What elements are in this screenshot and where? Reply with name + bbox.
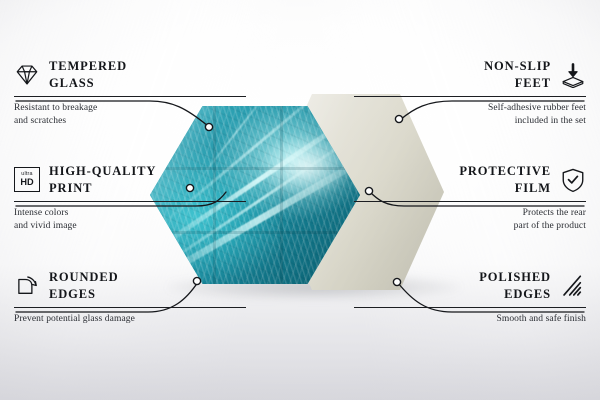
feature-tempered-glass: TEMPERED GLASS Resistant to breakage and… <box>14 58 246 129</box>
feature-description: Smooth and safe finish <box>354 313 586 326</box>
feature-title: ROUNDED EDGES <box>49 269 119 302</box>
feature-header: TEMPERED GLASS <box>14 58 246 91</box>
rounded-corner-icon <box>14 273 40 299</box>
feature-polished-edges: POLISHED EDGES Smooth and safe finish <box>354 269 586 326</box>
feature-header: POLISHED EDGES <box>354 269 586 302</box>
feature-title: TEMPERED GLASS <box>49 58 127 91</box>
feature-header: PROTECTIVE FILM <box>354 163 586 196</box>
feature-divider <box>354 307 586 308</box>
feature-header: NON-SLIP FEET <box>354 58 586 91</box>
feature-divider <box>354 201 586 202</box>
ultra-hd-badge-icon: ultra HD <box>14 167 40 192</box>
feature-divider <box>14 201 246 202</box>
infographic-canvas: TEMPERED GLASS Resistant to breakage and… <box>0 0 600 400</box>
feature-non-slip-feet: NON-SLIP FEET Self-adhesive rubber feet … <box>354 58 586 129</box>
feature-description: Intense colors and vivid image <box>14 207 246 234</box>
feature-divider <box>354 96 586 97</box>
mount-hole <box>423 257 430 264</box>
feature-header: ROUNDED EDGES <box>14 269 246 302</box>
feature-description: Protects the rear part of the product <box>354 207 586 234</box>
feature-high-quality-print: ultra HD HIGH-QUALITY PRINT Intense colo… <box>14 163 246 234</box>
feature-divider <box>14 96 246 97</box>
feature-header: ultra HD HIGH-QUALITY PRINT <box>14 163 246 196</box>
feature-title: POLISHED EDGES <box>479 269 551 302</box>
feature-title: HIGH-QUALITY PRINT <box>49 163 156 196</box>
feature-description: Self-adhesive rubber feet included in th… <box>354 102 586 129</box>
feature-protective-film: PROTECTIVE FILM Protects the rear part o… <box>354 163 586 234</box>
shield-check-icon <box>560 167 586 193</box>
feature-rounded-edges: ROUNDED EDGES Prevent potential glass da… <box>14 269 246 326</box>
feature-divider <box>14 307 246 308</box>
diamond-icon <box>14 62 40 88</box>
feature-description: Prevent potential glass damage <box>14 313 246 326</box>
press-down-pad-icon <box>560 62 586 88</box>
feature-title: PROTECTIVE FILM <box>459 163 551 196</box>
feature-description: Resistant to breakage and scratches <box>14 102 246 129</box>
hatched-wedge-icon <box>560 273 586 299</box>
feature-title: NON-SLIP FEET <box>484 58 551 91</box>
